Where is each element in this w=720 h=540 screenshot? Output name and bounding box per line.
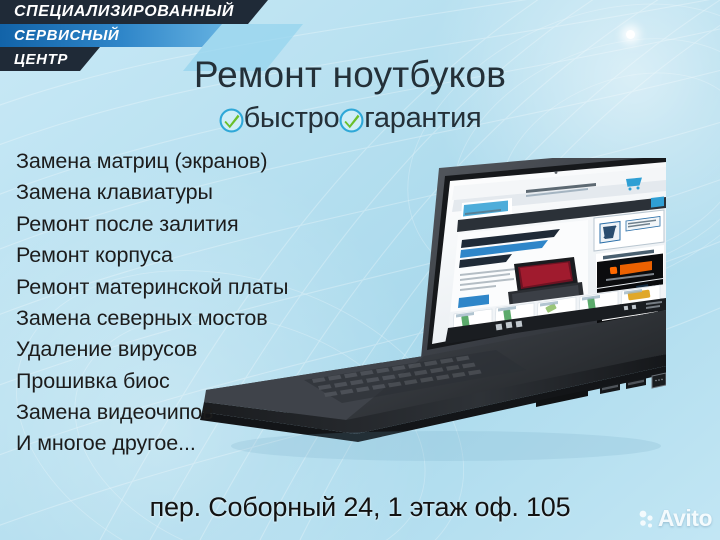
banner-line1-label: СПЕЦИАЛИЗИРОВАННЫЙ (14, 3, 234, 21)
banner-bar-center: ЦЕНТР (0, 47, 100, 71)
subtitle-row: быстро гарантия (150, 102, 550, 135)
banner-line3-label: ЦЕНТР (14, 51, 68, 68)
wrench-screwdriver-icon (600, 222, 620, 244)
banner-bar-service: СЕРВИСНЫЙ (0, 24, 222, 47)
avito-label: Avito (658, 505, 712, 532)
light-glow-dot (626, 30, 635, 39)
list-item: И многое другое... (16, 428, 356, 459)
subtitle-word-fast: быстро (244, 102, 340, 135)
avito-dots-icon (639, 509, 654, 529)
avito-watermark: Avito (639, 505, 712, 532)
services-list: Замена матриц (экранов) Замена клавиатур… (16, 146, 356, 460)
check-circle-icon (339, 108, 364, 133)
list-item: Замена видеочипов (16, 397, 356, 428)
list-item: Удаление вирусов (16, 334, 356, 365)
advertisement-poster: СПЕЦИАЛИЗИРОВАННЫЙ СЕРВИСНЫЙ ЦЕНТР Ремон… (0, 0, 720, 540)
check-circle-icon (219, 108, 244, 133)
subtitle-word-warranty: гарантия (364, 102, 481, 135)
list-item: Ремонт корпуса (16, 240, 356, 271)
list-item: Прошивка биос (16, 366, 356, 397)
list-item: Замена матриц (экранов) (16, 146, 356, 177)
list-item: Ремонт после залития (16, 209, 356, 240)
address-text: пер. Соборный 24, 1 этаж оф. 105 (0, 492, 720, 523)
page-title: Ремонт ноутбуков (150, 54, 550, 96)
list-item: Ремонт материнской платы (16, 272, 356, 303)
list-item: Замена северных мостов (16, 303, 356, 334)
list-item: Замена клавиатуры (16, 177, 356, 208)
banner-line2-label: СЕРВИСНЫЙ (14, 27, 119, 44)
banner-bar-specialized: СПЕЦИАЛИЗИРОВАННЫЙ (0, 0, 268, 24)
